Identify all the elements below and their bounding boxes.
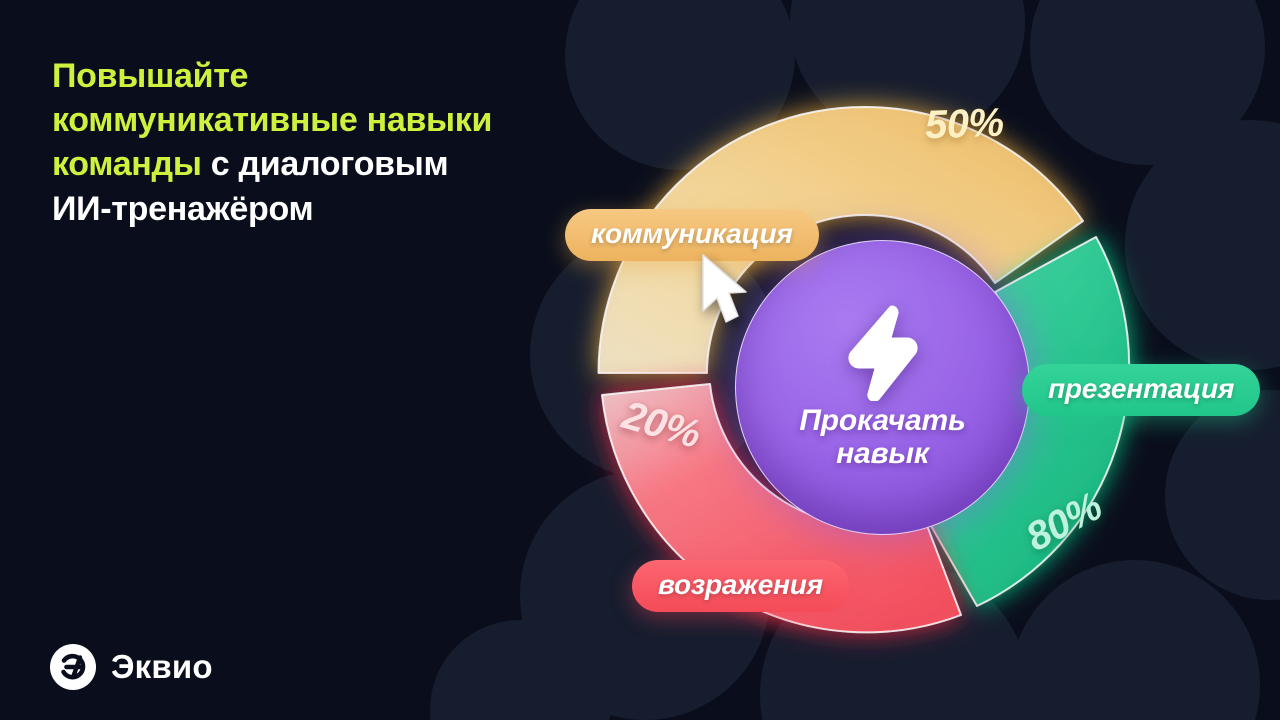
headline-line-4: ИИ-тренажёром xyxy=(52,190,313,228)
core-label: Прокачать навык xyxy=(736,405,1029,470)
ekvio-logo-mark-icon xyxy=(50,644,96,690)
headline-line-3-accent: команды xyxy=(52,145,202,183)
lightning-bolt-icon xyxy=(840,305,926,401)
page-title: Повышайте коммуникативные навыки команды… xyxy=(52,54,612,231)
core-disc[interactable]: Прокачать навык xyxy=(735,240,1030,535)
brand-logo[interactable]: Эквио xyxy=(50,644,213,690)
mouse-cursor-icon xyxy=(696,252,752,328)
promo-banner: Повышайте коммуникативные навыки команды… xyxy=(0,0,1280,720)
headline-line-1: Повышайте xyxy=(52,57,248,95)
headline-line-3-plain: с диалоговым xyxy=(202,145,449,183)
brand-name: Эквио xyxy=(111,648,213,686)
badge-presentation[interactable]: презентация xyxy=(1022,364,1260,416)
badge-communication[interactable]: коммуникация xyxy=(565,209,819,261)
badge-objections[interactable]: возражения xyxy=(632,560,849,612)
headline-line-2: коммуникативные навыки xyxy=(52,101,492,139)
